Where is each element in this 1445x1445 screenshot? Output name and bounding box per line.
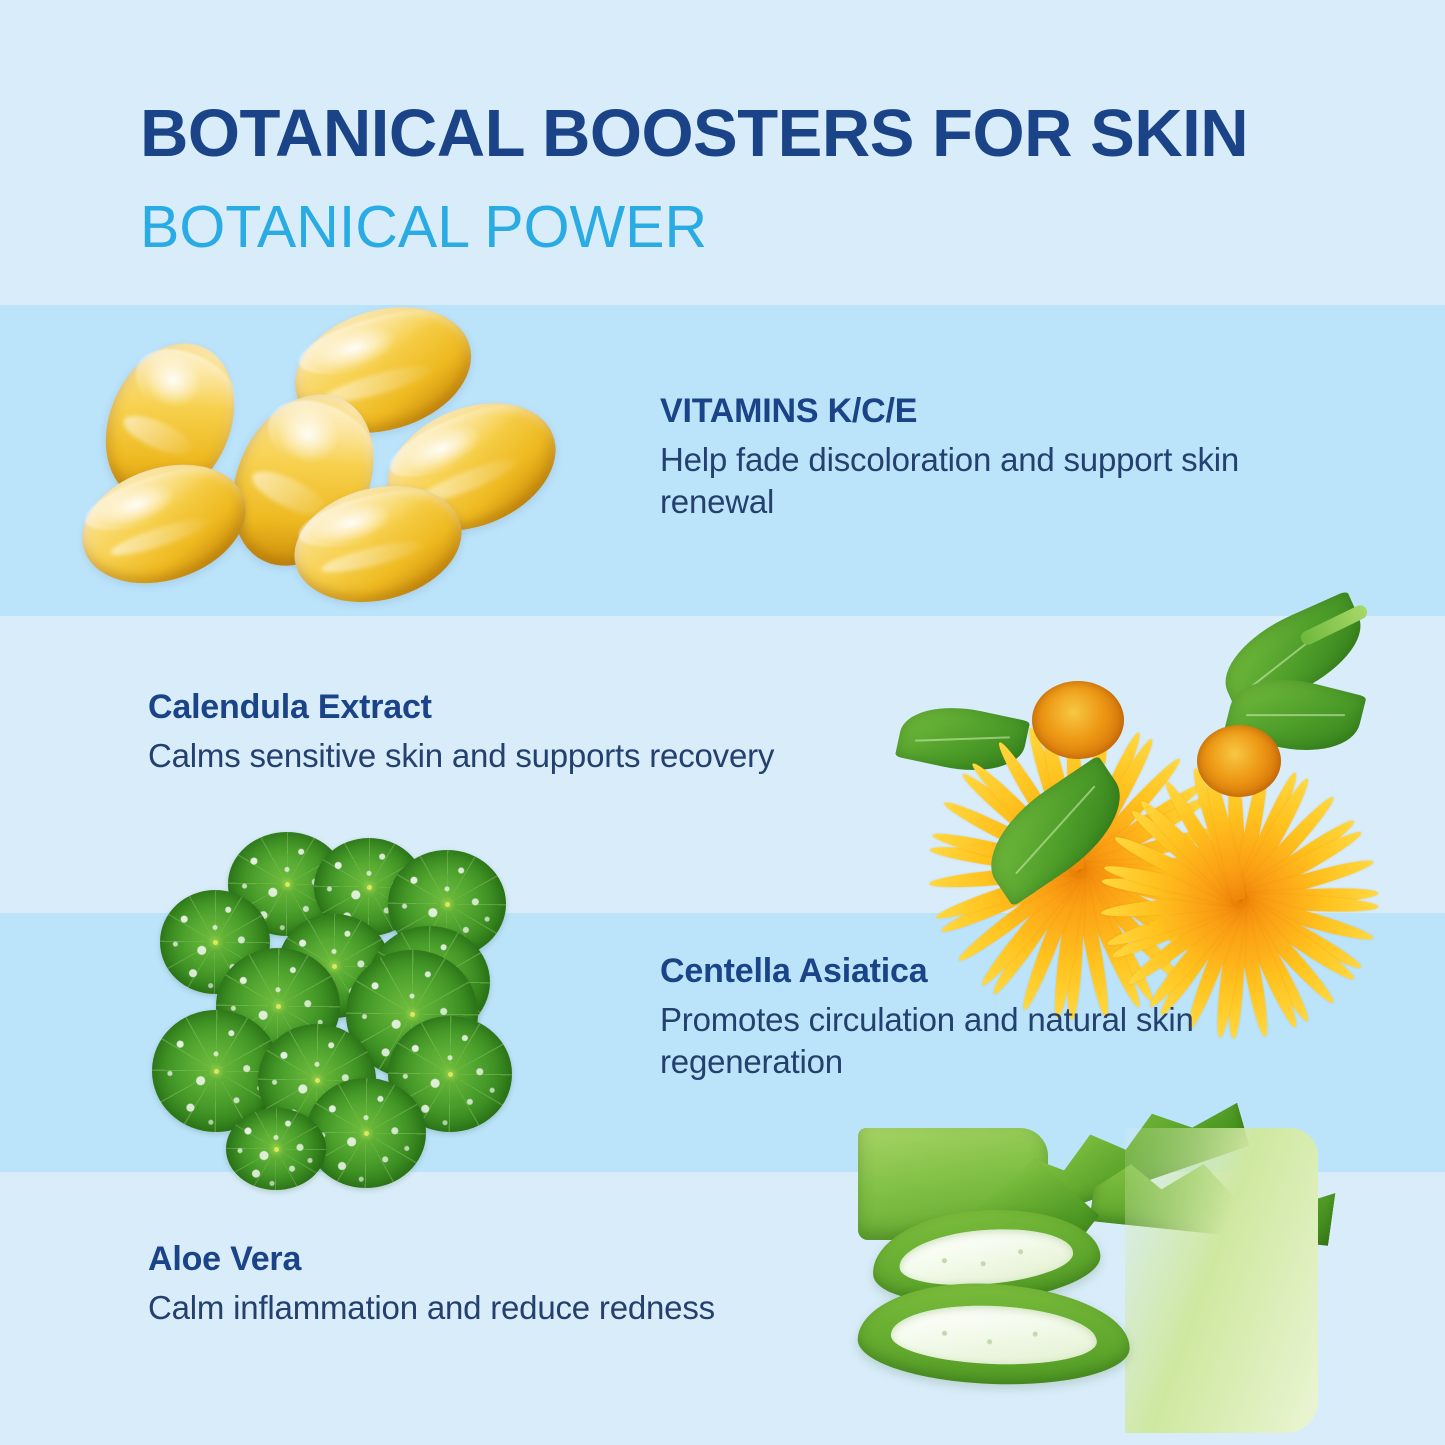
ingredient-name: VITAMINS K/C/E xyxy=(660,392,1320,431)
ingredient-description: Promotes circulation and natural skin re… xyxy=(660,999,1280,1083)
vitamin-capsules-image xyxy=(88,308,598,593)
centella-leaves-image xyxy=(138,826,568,1186)
header: BOTANICAL BOOSTERS FOR SKIN BOTANICAL PO… xyxy=(0,0,1445,305)
calendula-flowers-image xyxy=(900,560,1360,905)
page-title: BOTANICAL BOOSTERS FOR SKIN xyxy=(140,95,1248,172)
ingredient-description: Help fade discoloration and support skin… xyxy=(660,439,1320,523)
aloe-vera-image xyxy=(858,1128,1318,1433)
flower-center xyxy=(1197,725,1281,797)
aloe-gel xyxy=(890,1302,1099,1367)
ingredient-block-calendula: Calendula Extract Calms sensitive skin a… xyxy=(148,688,938,777)
ingredient-block-vitamins: VITAMINS K/C/E Help fade discoloration a… xyxy=(660,392,1320,523)
centella-leaf-icon xyxy=(226,1108,326,1190)
page-subtitle: BOTANICAL POWER xyxy=(140,193,707,261)
softgel-capsule-icon xyxy=(67,445,261,603)
ingredient-block-centella: Centella Asiatica Promotes circulation a… xyxy=(660,952,1280,1083)
ingredient-description: Calms sensitive skin and supports recove… xyxy=(148,735,938,777)
ingredient-name: Aloe Vera xyxy=(148,1240,888,1279)
ingredient-name: Centella Asiatica xyxy=(660,952,1280,991)
aloe-gel xyxy=(897,1223,1074,1291)
aloe-leaf-cut-icon xyxy=(856,1279,1131,1388)
ingredient-block-aloe: Aloe Vera Calm inflammation and reduce r… xyxy=(148,1240,888,1329)
ingredient-description: Calm inflammation and reduce redness xyxy=(148,1287,888,1329)
ingredient-name: Calendula Extract xyxy=(148,688,938,727)
calendula-flower-icon xyxy=(1100,622,1378,900)
